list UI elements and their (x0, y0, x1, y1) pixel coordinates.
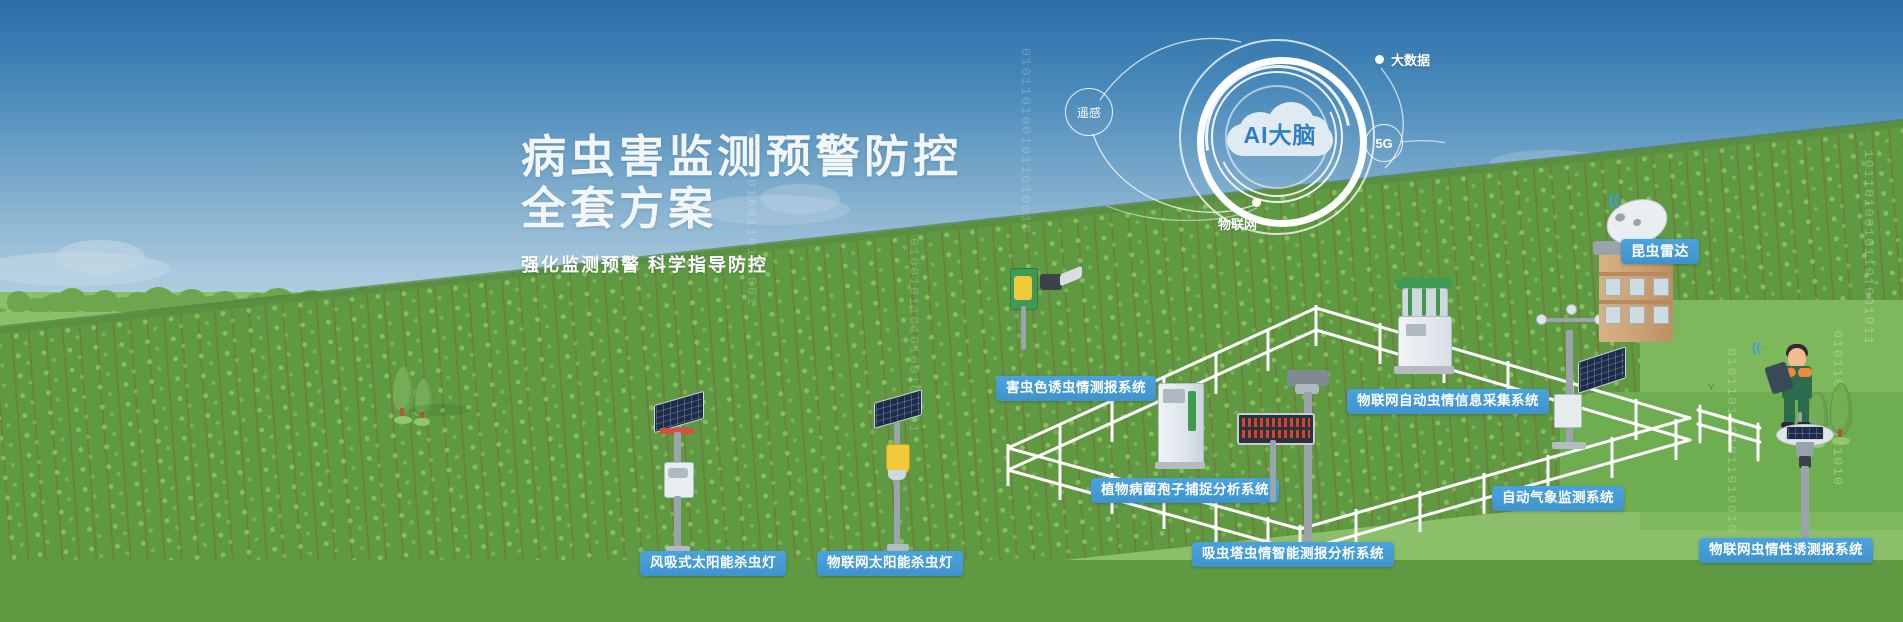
ai-brain-label: AI大脑 (1227, 116, 1333, 150)
binary-decor: 10110100101101001011 (1861, 150, 1876, 346)
equipment-wind-solar-lamp[interactable] (648, 398, 718, 558)
equipment-iot-pest-collect[interactable] (1392, 278, 1462, 388)
led-display-board[interactable] (1237, 413, 1315, 445)
label-iot-pest-collect[interactable]: 物联网自动虫情信息采集系统 (1347, 389, 1549, 414)
equipment-iot-pheromone[interactable] (1772, 420, 1842, 540)
title-block: 病虫害监测预警防控 全套方案 强化监测预警 科学指导防控 (521, 131, 962, 277)
node-iot-label: 物联网 (1218, 214, 1257, 233)
wifi-signal-icon: ((· (1752, 340, 1765, 355)
page-title-line2: 全套方案 (521, 183, 962, 235)
label-pest-color-trap[interactable]: 害虫色诱虫情测报系统 (996, 376, 1156, 401)
page-subtitle: 强化监测预警 科学指导防控 (521, 251, 962, 277)
node-iot-dot (1252, 198, 1261, 207)
equipment-pest-color-trap[interactable] (1010, 268, 1090, 348)
label-wind-solar-lamp[interactable]: 风吸式太阳能杀虫灯 (640, 551, 786, 576)
node-5g[interactable]: 5G (1365, 124, 1403, 162)
binary-decor: 0101101001011010010 (1018, 48, 1033, 234)
grass-tuft: ⋎ (1707, 382, 1715, 393)
label-suction-tower[interactable]: 吸虫塔虫情智能测报分析系统 (1192, 542, 1394, 567)
equipment-auto-weather[interactable] (1530, 318, 1610, 448)
page-title-line1: 病虫害监测预警防控 (521, 131, 962, 183)
node-remote-sensing[interactable]: 遥感 (1065, 88, 1113, 136)
cloud-shape (55, 240, 145, 274)
label-auto-weather[interactable]: 自动气象监测系统 (1492, 486, 1624, 511)
led-board-pole (1270, 440, 1276, 502)
grass-tuft: ⋎ (502, 396, 510, 407)
equipment-spore-capture[interactable] (1158, 383, 1214, 483)
wifi-signal-icon: ((· (1609, 192, 1624, 209)
equipment-suction-tower[interactable] (1285, 370, 1335, 550)
node-5g-label: 5G (1375, 136, 1392, 151)
label-iot-pheromone[interactable]: 物联网虫情性诱测报系统 (1699, 538, 1873, 563)
binary-decor: 0101101001011010010 (1724, 348, 1739, 534)
label-iot-solar-lamp[interactable]: 物联网太阳能杀虫灯 (817, 551, 963, 576)
tree-shadow (410, 404, 470, 416)
node-remote-sensing-label: 遥感 (1077, 104, 1101, 121)
label-insect-radar[interactable]: 昆虫雷达 (1621, 239, 1699, 264)
node-big-data-dot (1375, 55, 1384, 64)
ai-brain-cluster: AI大脑 遥感 5G 大数据 物联网 (1045, 28, 1445, 238)
node-big-data-label: 大数据 (1391, 50, 1430, 69)
farmer-arm (1798, 368, 1812, 377)
farmer-head (1788, 348, 1806, 368)
hedge-bush (0, 308, 6, 312)
pest-monitoring-banner: 010010100110101001 01001011010100101101 … (0, 0, 1903, 622)
led-row (1242, 418, 1310, 427)
label-spore-capture[interactable]: 植物病菌孢子捕捉分析系统 (1091, 478, 1279, 503)
led-row (1242, 430, 1310, 438)
equipment-iot-solar-lamp[interactable] (868, 396, 938, 556)
